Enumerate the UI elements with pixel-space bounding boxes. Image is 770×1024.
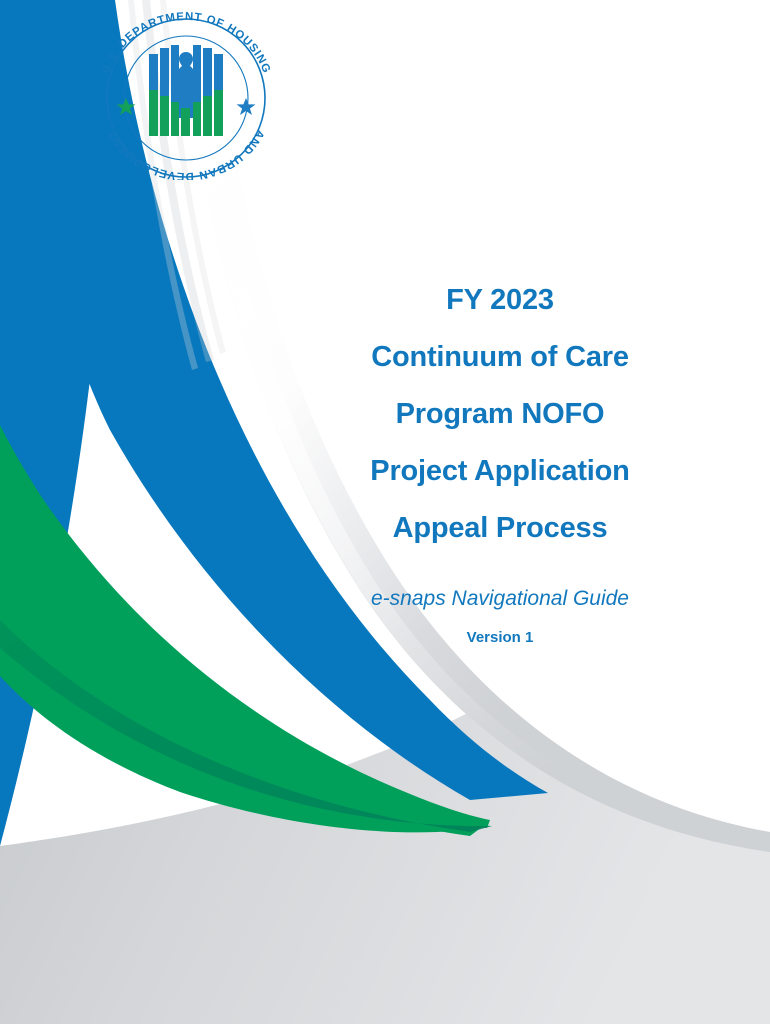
title-line-4: Project Application (300, 443, 700, 500)
title-line-5: Appeal Process (300, 500, 700, 557)
title-block: FY 2023 Continuum of Care Program NOFO P… (300, 272, 700, 648)
hud-seal-graphic: U.S. DEPARTMENT OF HOUSING AND URBAN DEV… (93, 12, 279, 180)
version-label: Version 1 (300, 628, 700, 648)
title-line-1: FY 2023 (300, 272, 700, 329)
guide-subtitle: e-snaps Navigational Guide (300, 585, 700, 613)
seal-building-icon (149, 45, 223, 136)
title-line-3: Program NOFO (300, 386, 700, 443)
title-line-2: Continuum of Care (300, 329, 700, 386)
cover-page: U.S. DEPARTMENT OF HOUSING AND URBAN DEV… (0, 0, 770, 1024)
hud-seal: U.S. DEPARTMENT OF HOUSING AND URBAN DEV… (93, 12, 279, 180)
